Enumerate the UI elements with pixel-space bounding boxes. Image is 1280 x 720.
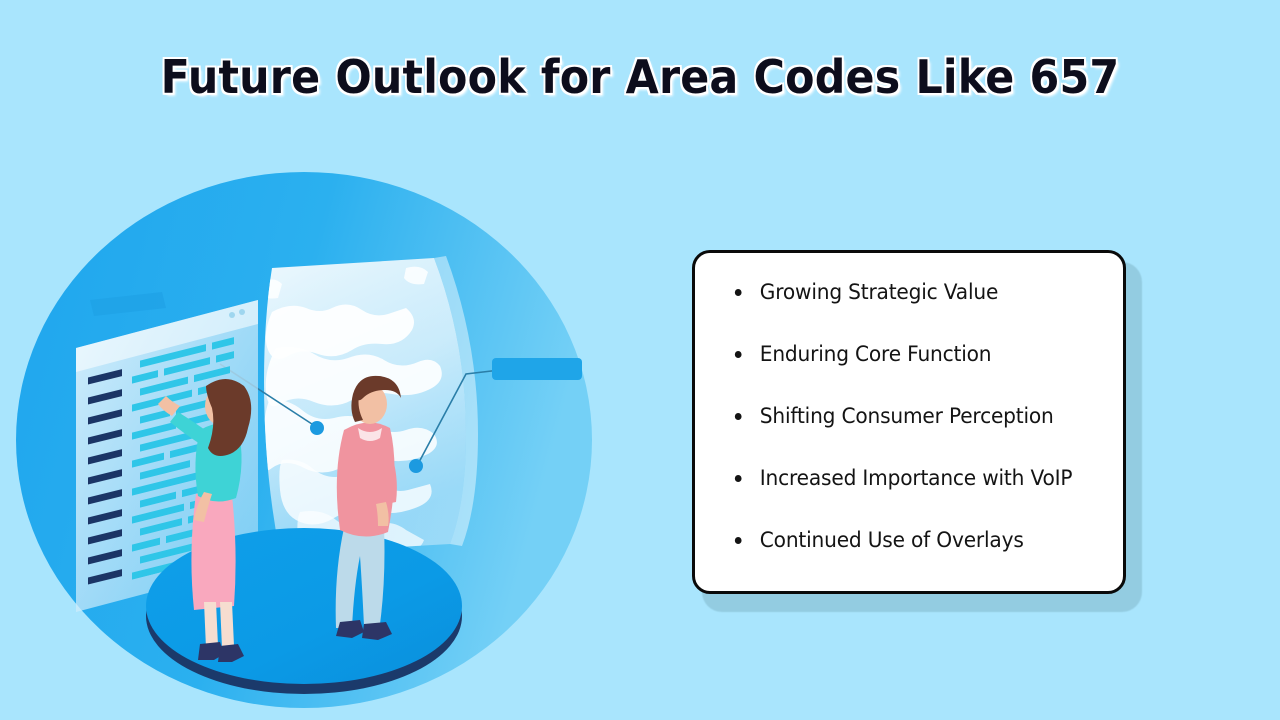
list-item: Continued Use of Overlays xyxy=(731,527,1107,553)
list-item: Shifting Consumer Perception xyxy=(731,403,1107,429)
illustration xyxy=(14,172,594,712)
bullet-dot-icon xyxy=(735,475,742,482)
bullet-dot-icon xyxy=(735,289,742,296)
list-item-label: Continued Use of Overlays xyxy=(760,528,1024,552)
bullet-dot-icon xyxy=(735,351,742,358)
page-title: Future Outlook for Area Codes Like 657 xyxy=(45,48,1235,106)
slide-root: Future Outlook for Area Codes Like 657 xyxy=(0,0,1280,720)
list-item: Enduring Core Function xyxy=(731,341,1107,367)
list-item-label: Increased Importance with VoIP xyxy=(760,466,1073,490)
bullet-dot-icon xyxy=(735,537,742,544)
bullet-dot-icon xyxy=(735,413,742,420)
list-item-label: Enduring Core Function xyxy=(760,342,992,366)
bullet-card: Growing Strategic Value Enduring Core Fu… xyxy=(692,250,1126,594)
list-item-label: Growing Strategic Value xyxy=(760,280,998,304)
accent-bar-right xyxy=(492,358,582,380)
list-item-label: Shifting Consumer Perception xyxy=(760,404,1054,428)
list-item: Increased Importance with VoIP xyxy=(731,465,1107,491)
bullet-list: Growing Strategic Value Enduring Core Fu… xyxy=(695,253,1123,553)
list-item: Growing Strategic Value xyxy=(731,279,1107,305)
